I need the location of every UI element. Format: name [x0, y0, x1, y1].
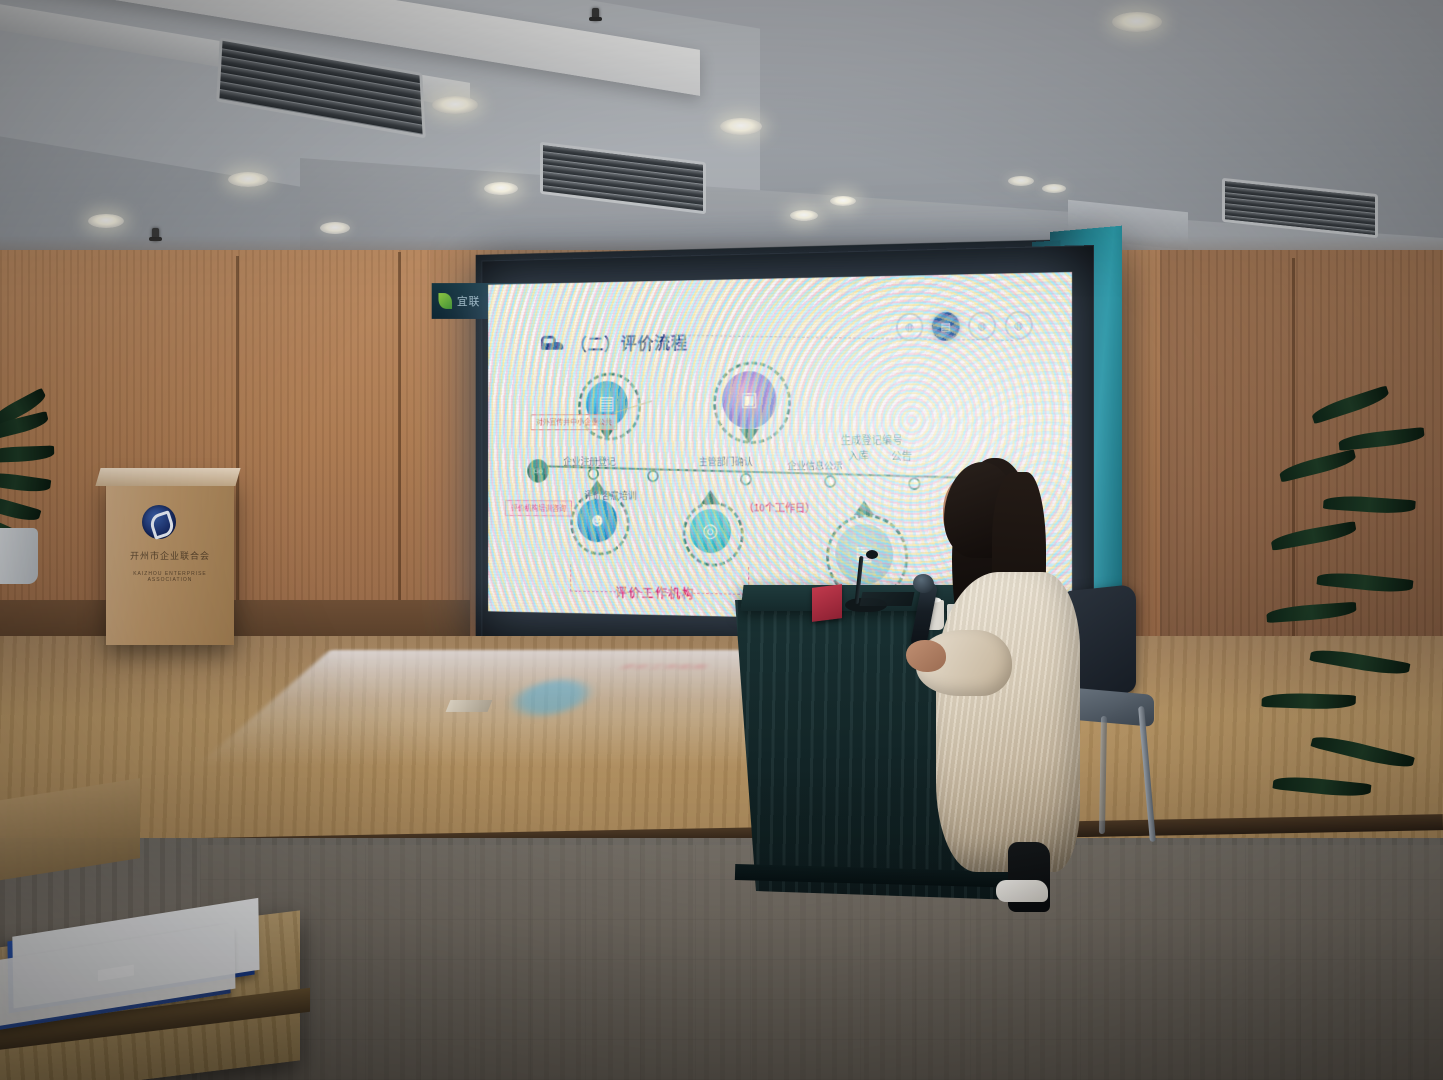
circle-icon-3[interactable]: ◍	[968, 311, 996, 340]
slide-section-icons: ◍ ▤ ◍ ◍	[896, 311, 1033, 342]
ceiling-downlight-3	[228, 172, 268, 187]
leaf-icon	[438, 293, 452, 309]
ceiling	[0, 0, 1443, 272]
podium[interactable]: 开州市企业联合会 KAIZHOU ENTERPRISE ASSOCIATION	[106, 477, 234, 645]
circle-icon-4[interactable]: ◍	[1005, 311, 1033, 340]
speaker-sweater	[936, 572, 1080, 872]
person-icon: ☻	[588, 511, 606, 530]
step-node-building[interactable]: ▣	[722, 371, 776, 429]
annotation-left-arrow: 评价机构培训咨询	[505, 500, 572, 516]
ceiling-downlight-4	[720, 118, 762, 135]
step-label-6: 入库	[848, 448, 869, 464]
timeline-dot-2	[647, 470, 658, 482]
step-node-person[interactable]: ☻	[577, 499, 617, 543]
annotation-working-days: （10个工作日）	[744, 500, 815, 516]
step-label-5: 生成登记编号	[841, 432, 903, 448]
speaker-hand	[906, 640, 946, 672]
node-pin-4	[739, 429, 759, 443]
gooseneck-microphone-head	[866, 550, 878, 559]
step-label-3: 主管部门确认	[699, 454, 753, 468]
timeline-dot-4	[824, 475, 836, 488]
ceiling-downlight-5	[88, 214, 124, 228]
ceiling-downlight-1	[1112, 12, 1162, 32]
building-icon: ▣	[741, 390, 758, 409]
annotation-top-left: 对外宣传并中小企业公共	[531, 414, 618, 430]
association-logo-icon	[142, 505, 176, 539]
node-pin-3	[701, 490, 721, 504]
plant-pot-left	[0, 528, 38, 584]
circle-icon-1[interactable]: ◍	[896, 313, 923, 342]
seal-icon: ◎	[703, 521, 719, 540]
ceiling-downlight-8	[1008, 176, 1034, 186]
plant-right	[1284, 402, 1443, 822]
ceiling-downlight-12	[830, 196, 856, 206]
podium-top-surface	[95, 468, 240, 486]
speaker-shoe	[996, 880, 1048, 902]
sprinkler-icon-1	[592, 8, 599, 21]
reflection-text: 评价工作机构	[617, 663, 712, 672]
train-icon	[541, 335, 563, 353]
plant-left	[0, 408, 92, 598]
step-node-seal[interactable]: ◎	[690, 509, 731, 553]
projector-brand-label: 宜联	[457, 293, 480, 309]
step-label-2: 评价咨意培训	[584, 487, 636, 501]
train-icon-active[interactable]: ▤	[932, 312, 960, 341]
step-label-1: 企业注册登记	[563, 454, 615, 468]
node-pin-5	[854, 501, 875, 516]
wall-seam-1	[236, 256, 239, 656]
floor-paper-scrap	[446, 700, 493, 712]
step-node-archive[interactable]: ▤	[835, 524, 893, 585]
ceiling-downlight-9	[1042, 184, 1066, 193]
annotation-org: 评价工作机构	[616, 582, 696, 602]
reflection-blob-1	[505, 680, 595, 715]
name-card	[812, 584, 842, 622]
timeline-dot-1	[588, 468, 599, 480]
ceiling-downlight-6	[320, 222, 350, 234]
speaker	[900, 452, 1080, 892]
ceiling-downlight-7	[484, 182, 518, 195]
step-label-4: 企业信息公示	[787, 458, 842, 473]
podium-org-subtitle: KAIZHOU ENTERPRISE ASSOCIATION	[120, 571, 220, 583]
timeline-dot-3	[740, 473, 752, 486]
ceiling-downlight-10	[790, 210, 818, 221]
ceiling-downlight-2	[432, 96, 478, 114]
document-icon: ▤	[599, 394, 616, 413]
conference-room-photo: 宜联 （二）评价流程 ◍ ▤ ◍ ◍	[0, 0, 1443, 1080]
podium-org-name: 开州市企业联合会	[120, 549, 220, 562]
start-bubble: Go	[527, 459, 548, 482]
